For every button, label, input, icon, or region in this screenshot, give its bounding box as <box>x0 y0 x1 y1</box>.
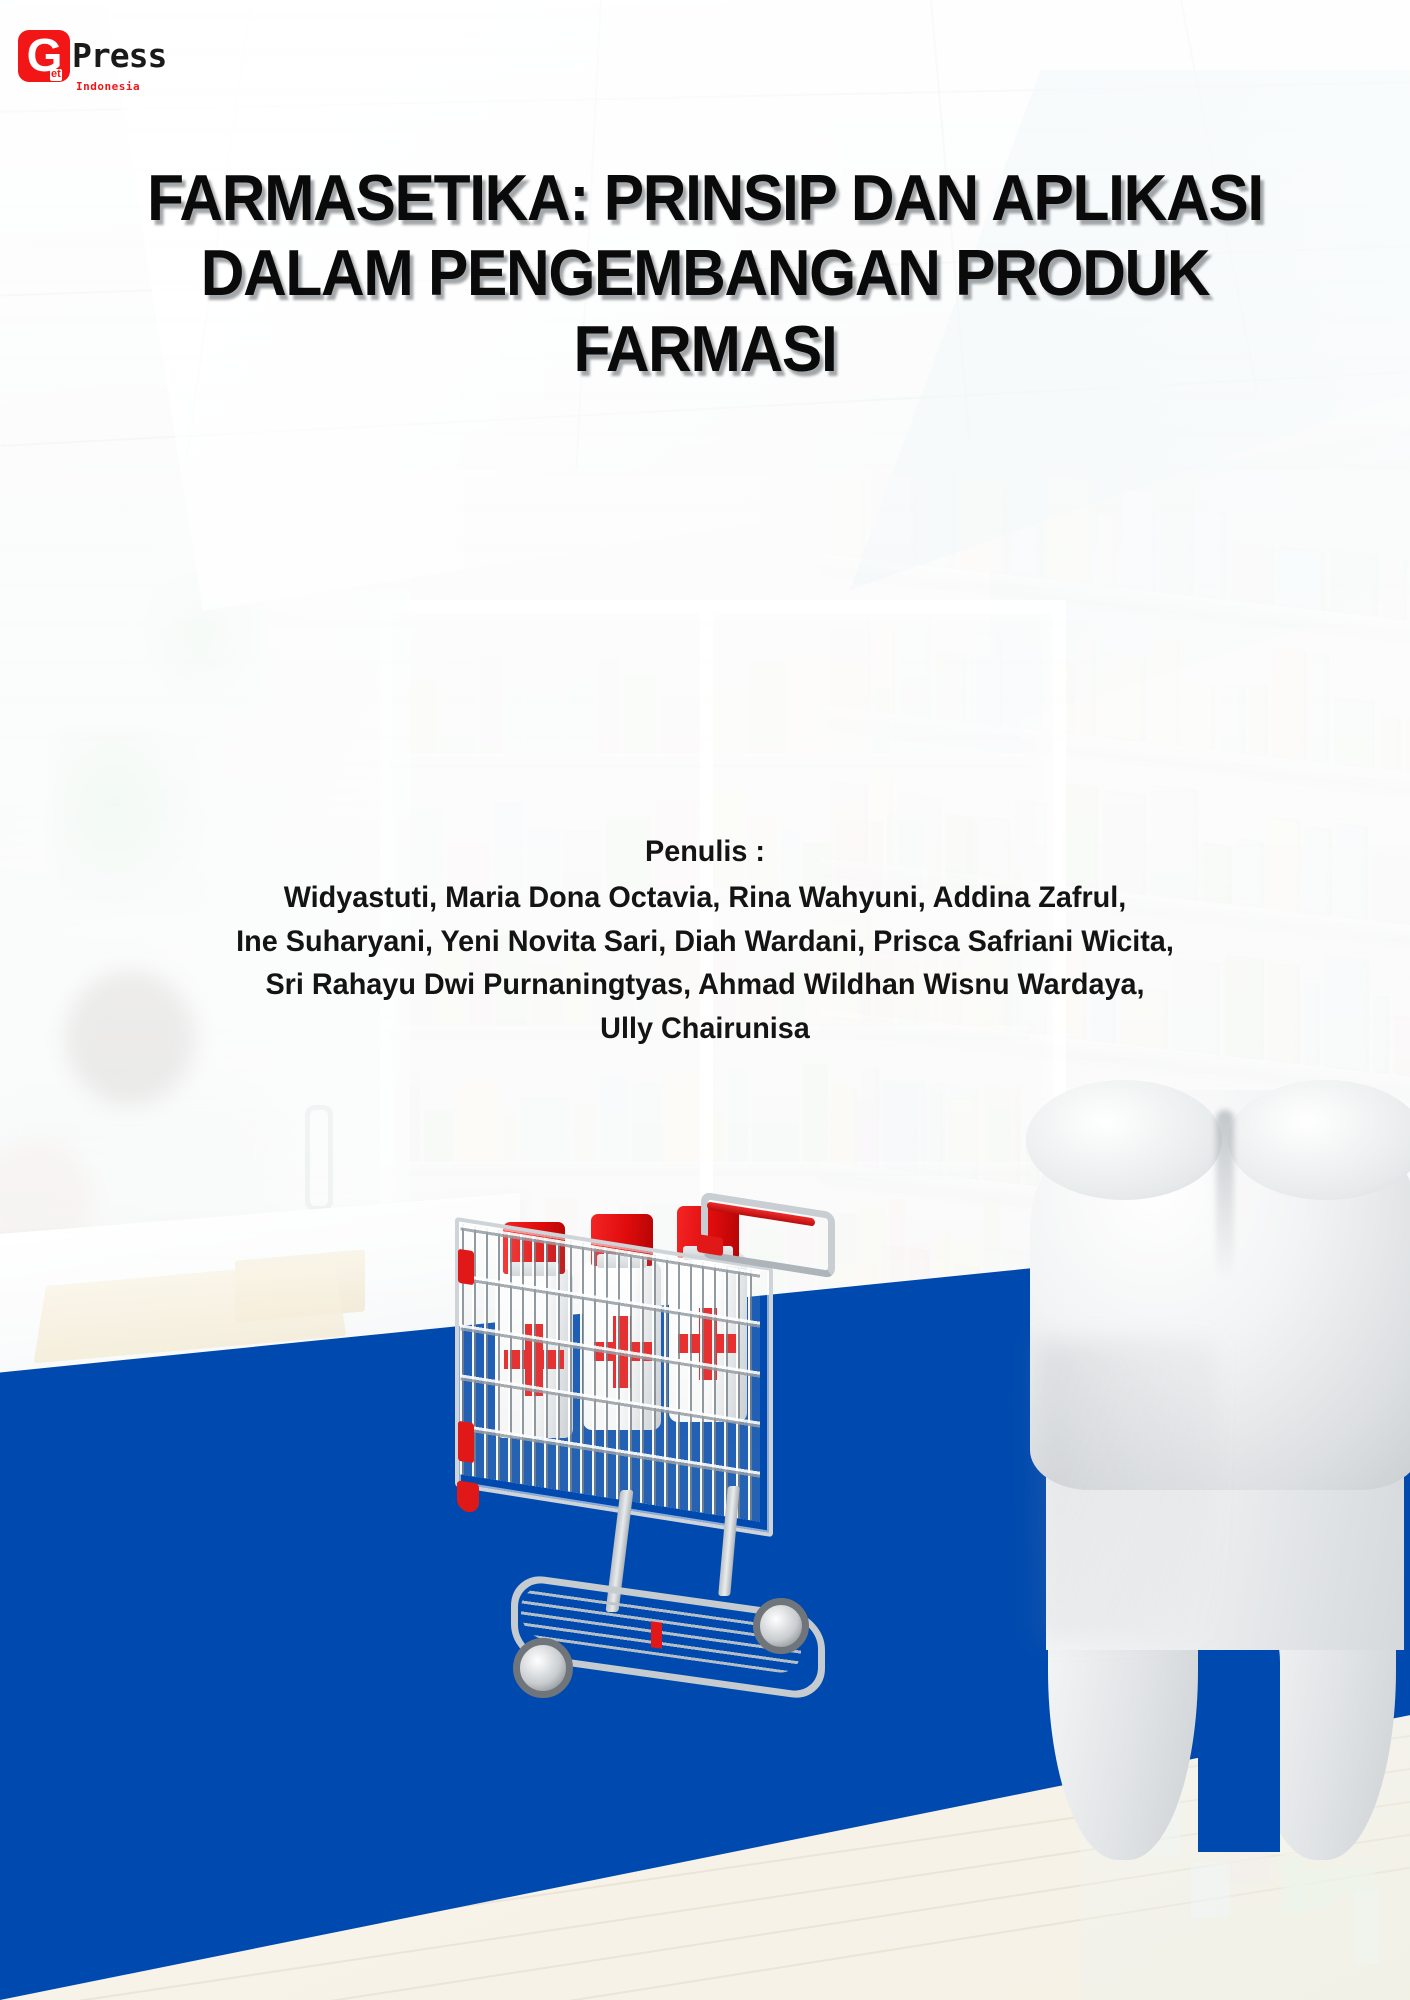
tooth-groove <box>1216 1110 1234 1280</box>
medicine-box <box>1101 653 1146 743</box>
medicine-box <box>1383 553 1407 621</box>
medicine-box <box>573 1104 596 1162</box>
cart-red-clip <box>651 1621 662 1649</box>
medicine-box <box>1185 682 1215 750</box>
medicine-box <box>1374 995 1389 1075</box>
medicine-box <box>1015 1086 1022 1162</box>
medicine-box <box>1231 542 1274 606</box>
medicine-box <box>1394 1015 1410 1078</box>
cart-wheel <box>513 1638 573 1698</box>
medicine-box <box>1161 481 1194 597</box>
medicine-box <box>600 1076 628 1162</box>
medicine-box <box>790 656 829 754</box>
medicine-box <box>457 1081 499 1162</box>
medicine-box <box>1337 823 1368 921</box>
medicine-box <box>1080 637 1096 737</box>
medicine-box <box>526 698 563 754</box>
medicine-box <box>752 1096 799 1162</box>
molar-tooth-illustration <box>1030 1090 1410 1830</box>
shopping-cart <box>455 1190 875 1750</box>
medicine-box <box>1047 475 1093 585</box>
cabinet-handle <box>305 1105 333 1211</box>
medicine-box <box>803 1064 828 1162</box>
logo-mark-icon: G et <box>18 30 70 82</box>
medicine-box <box>521 1097 569 1162</box>
medicine-box <box>833 661 867 754</box>
medicine-box <box>832 1079 850 1162</box>
medicine-box <box>990 1109 1011 1162</box>
medicine-box <box>1273 646 1307 761</box>
cart-red-clip <box>458 1249 474 1286</box>
medicine-box <box>945 659 973 754</box>
book-cover: G et Press Indonesia FARMASETIKA: PRINSI… <box>0 0 1410 2000</box>
medicine-box <box>441 656 476 754</box>
medicine-box <box>632 1083 662 1162</box>
logo-tagline: Indonesia <box>76 80 140 93</box>
medicine-box <box>878 1080 926 1162</box>
author-block: Penulis : Widyastuti, Maria Dona Octavia… <box>86 830 1324 1051</box>
medicine-box <box>977 657 1021 754</box>
medicine-box <box>660 695 703 754</box>
medicine-box <box>894 676 941 754</box>
medicine-box <box>930 1083 946 1162</box>
tooth-shading <box>1036 1340 1216 1640</box>
medicine-box <box>1334 696 1375 769</box>
title-line-3: FARMASI <box>77 311 1333 386</box>
medicine-box <box>871 689 890 754</box>
medicine-box <box>830 477 866 559</box>
medicine-box <box>624 675 656 754</box>
medicine-box <box>666 1075 700 1162</box>
medicine-box <box>1380 715 1401 772</box>
medicine-box <box>728 1071 748 1162</box>
author-line: Sri Rahayu Dwi Purnaningtyas, Ahmad Wild… <box>86 963 1324 1007</box>
medicine-box <box>480 655 502 754</box>
authors-label: Penulis : <box>86 830 1324 874</box>
medicine-box <box>1122 487 1156 592</box>
title-line-2: DALAM PENGEMBANGAN PRODUK <box>77 235 1333 310</box>
medicine-box <box>503 1115 517 1162</box>
cart-wheel <box>753 1598 809 1654</box>
medicine-box <box>1250 684 1268 757</box>
logo-wordmark: Press <box>72 30 166 82</box>
cart-basket-frame <box>455 1217 773 1537</box>
medicine-box <box>748 661 786 754</box>
title-line-1: FARMASETIKA: PRINSIP DAN APLIKASI <box>77 160 1333 235</box>
publisher-logo[interactable]: G et Press Indonesia <box>18 30 166 82</box>
medicine-box <box>1279 546 1325 611</box>
logo-letters-et: et <box>50 69 62 81</box>
medicine-box <box>1406 718 1410 775</box>
medicine-box <box>1098 511 1117 587</box>
medicine-box <box>1151 636 1180 747</box>
tooth-cusp <box>1228 1080 1410 1200</box>
cart-red-clip <box>458 1421 474 1464</box>
book-title: FARMASETIKA: PRINSIP DAN APLIKASI DALAM … <box>77 160 1333 386</box>
author-line: Widyastuti, Maria Dona Octavia, Rina Wah… <box>86 876 1324 920</box>
medicine-box <box>1373 854 1410 926</box>
medicine-box <box>1325 954 1369 1072</box>
medicine-box <box>871 471 916 565</box>
medicine-box <box>567 681 594 754</box>
medicine-box <box>1330 549 1378 617</box>
medicine-box <box>1220 682 1245 754</box>
author-line: Ine Suharyani, Yeni Novita Sari, Diah Wa… <box>86 920 1324 964</box>
cart-red-clip <box>457 1480 479 1513</box>
medicine-box <box>921 470 955 569</box>
medicine-box <box>506 684 522 754</box>
medicine-box <box>1012 517 1042 579</box>
medicine-box <box>950 1100 986 1162</box>
medicine-box <box>1312 653 1329 764</box>
medicine-box <box>598 658 620 754</box>
medicine-box <box>854 1099 874 1162</box>
medicine-box <box>960 479 1007 575</box>
author-line: Ully Chairunisa <box>86 1007 1324 1051</box>
medicine-box <box>424 1111 453 1162</box>
tooth-cusp <box>1026 1080 1222 1200</box>
green-product-blur <box>140 560 260 710</box>
medicine-box <box>1199 509 1226 600</box>
